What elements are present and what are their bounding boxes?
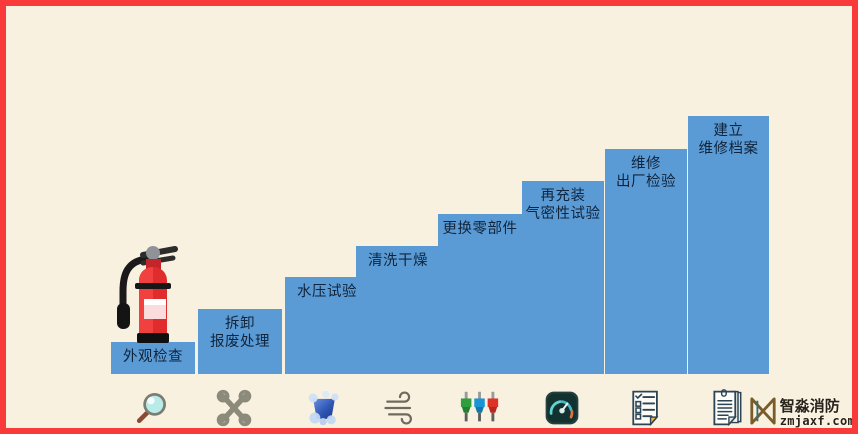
bar-label-4: 清洗干燥 bbox=[356, 250, 440, 270]
watermark-brand: 智淼消防 bbox=[780, 399, 855, 415]
fire-extinguisher-icon bbox=[109, 239, 189, 351]
magnifier-icon bbox=[116, 384, 186, 432]
bar-2: 拆卸 报废处理 bbox=[198, 309, 282, 374]
bar-label-8: 建立 维修档案 bbox=[688, 120, 769, 158]
watermark-text: 智淼消防 zmjaxf.com bbox=[780, 399, 855, 427]
bar-5: 更换零部件 bbox=[438, 214, 522, 374]
bar-4: 清洗干燥 bbox=[356, 246, 440, 374]
watermark-url: zmjaxf.com bbox=[780, 415, 855, 428]
bar-8: 建立 维修档案 bbox=[688, 116, 769, 374]
bar-label-7: 维修 出厂检验 bbox=[605, 153, 687, 191]
bar-7: 维修 出厂检验 bbox=[605, 149, 687, 374]
bar-chart-plot: 外观检查拆卸 报废处理水压试验清洗干燥更换零部件再充装 气密性试验维修 出厂检验… bbox=[6, 6, 858, 434]
gauge-icon bbox=[527, 384, 597, 432]
watermark: 智淼消防 zmjaxf.com bbox=[749, 394, 855, 432]
bar-label-5: 更换零部件 bbox=[438, 218, 522, 238]
wind-dry-icon bbox=[365, 384, 435, 432]
bar-label-6: 再充装 气密性试验 bbox=[522, 185, 604, 223]
water-drop-icon bbox=[289, 384, 359, 432]
zmjaxf-logo-icon bbox=[749, 395, 777, 432]
parts-plugs-icon bbox=[445, 384, 515, 432]
bar-6: 再充装 气密性试验 bbox=[522, 181, 604, 374]
bar-label-2: 拆卸 报废处理 bbox=[198, 313, 282, 351]
checklist-icon bbox=[611, 384, 681, 432]
figure-canvas: 外观检查拆卸 报废处理水压试验清洗干燥更换零部件再充装 气密性试验维修 出厂检验… bbox=[0, 0, 858, 434]
wrenches-icon bbox=[199, 384, 269, 432]
